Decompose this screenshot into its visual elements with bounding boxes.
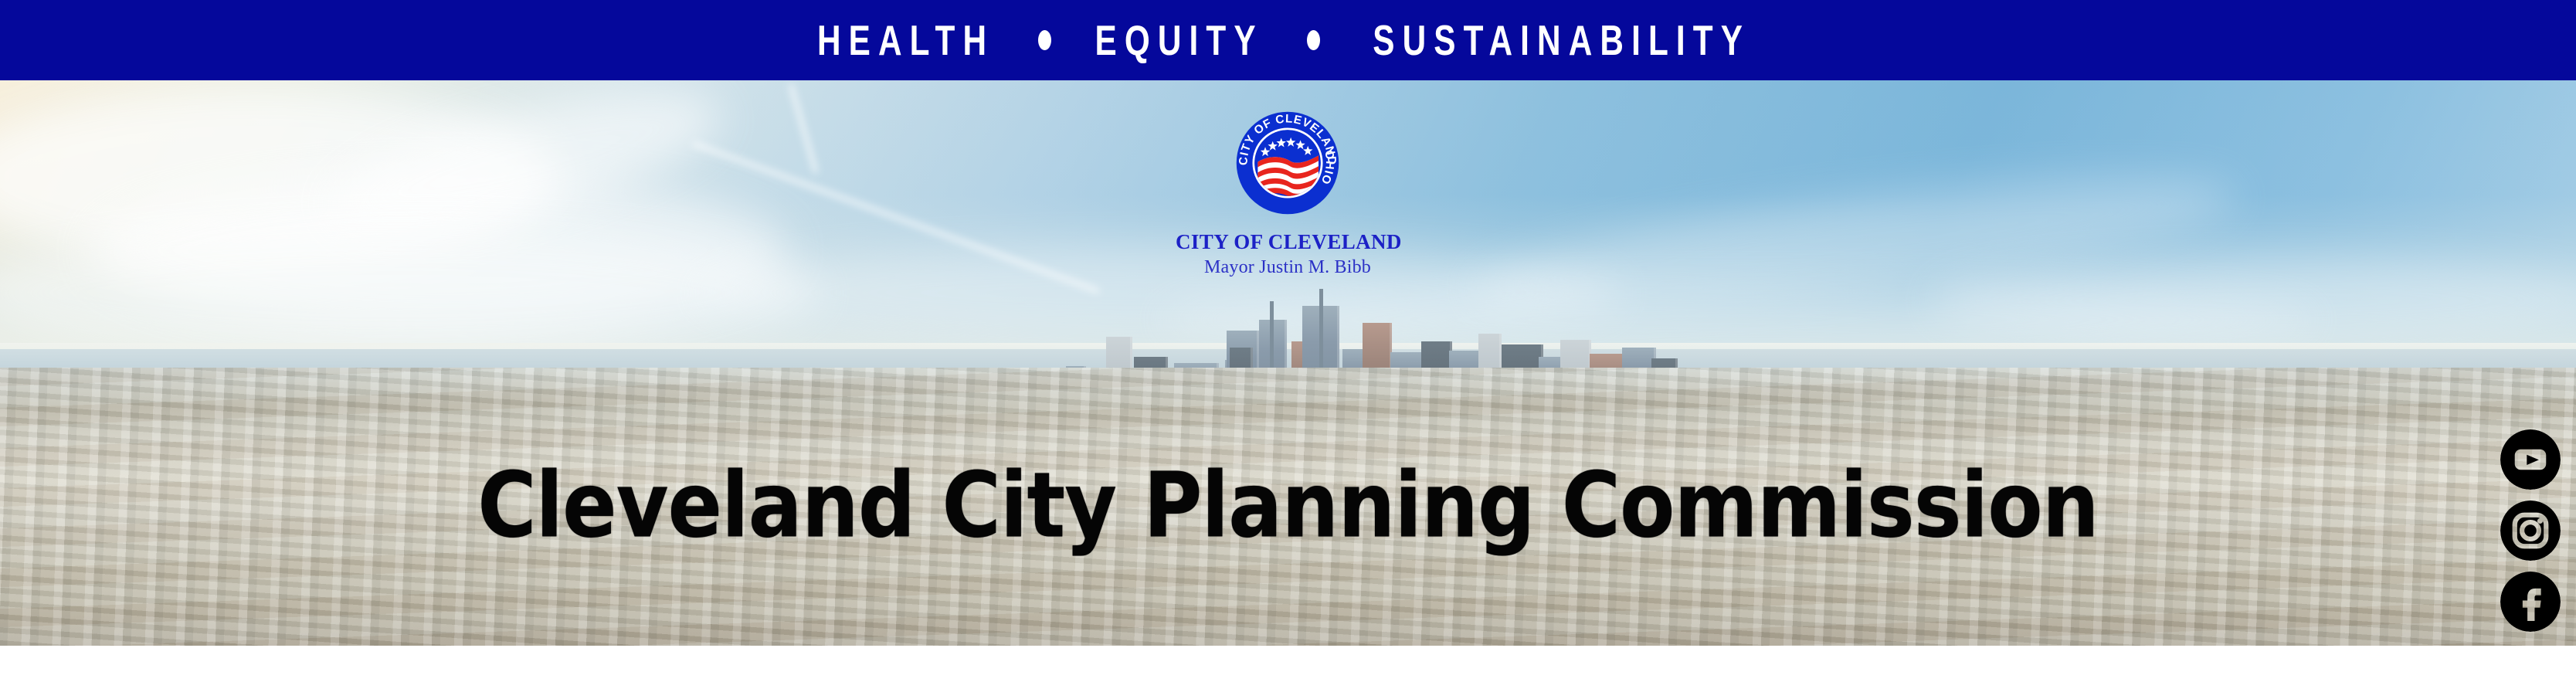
logo-title: CITY OF CLEVELAND xyxy=(1176,230,1400,254)
logo-subtitle-mayor: Mayor Justin M. Bibb xyxy=(1176,257,1400,278)
tagline-word-sustainability: SUSTAINABILITY xyxy=(1373,15,1750,65)
city-of-cleveland-logo-block[interactable]: CITY OF CLEVELAND OHIO CITY OF CLEVELAND… xyxy=(1176,110,1400,278)
tagline-bullet-icon xyxy=(1038,30,1051,50)
hero-photograph: CITY OF CLEVELAND OHIO CITY OF CLEVELAND… xyxy=(0,80,2576,646)
tagline-word-health: HEALTH xyxy=(817,15,994,65)
city-of-cleveland-seal-icon: CITY OF CLEVELAND OHIO xyxy=(1234,110,1341,216)
youtube-icon[interactable] xyxy=(2500,429,2561,490)
page-root: HEALTH EQUITY SUSTAINABILITY xyxy=(0,0,2576,682)
tagline-inner: HEALTH EQUITY SUSTAINABILITY xyxy=(809,19,1767,61)
page-title: Cleveland City Planning Commission xyxy=(0,460,2576,550)
bottom-white-strip xyxy=(0,646,2576,682)
instagram-icon[interactable] xyxy=(2500,500,2561,561)
tagline-word-equity: EQUITY xyxy=(1095,15,1263,65)
tagline-banner: HEALTH EQUITY SUSTAINABILITY xyxy=(0,0,2576,80)
social-media-rail xyxy=(2499,429,2562,632)
tagline-bullet-icon xyxy=(1307,30,1320,50)
facebook-icon[interactable] xyxy=(2500,572,2561,632)
contrail-streak xyxy=(789,83,818,174)
